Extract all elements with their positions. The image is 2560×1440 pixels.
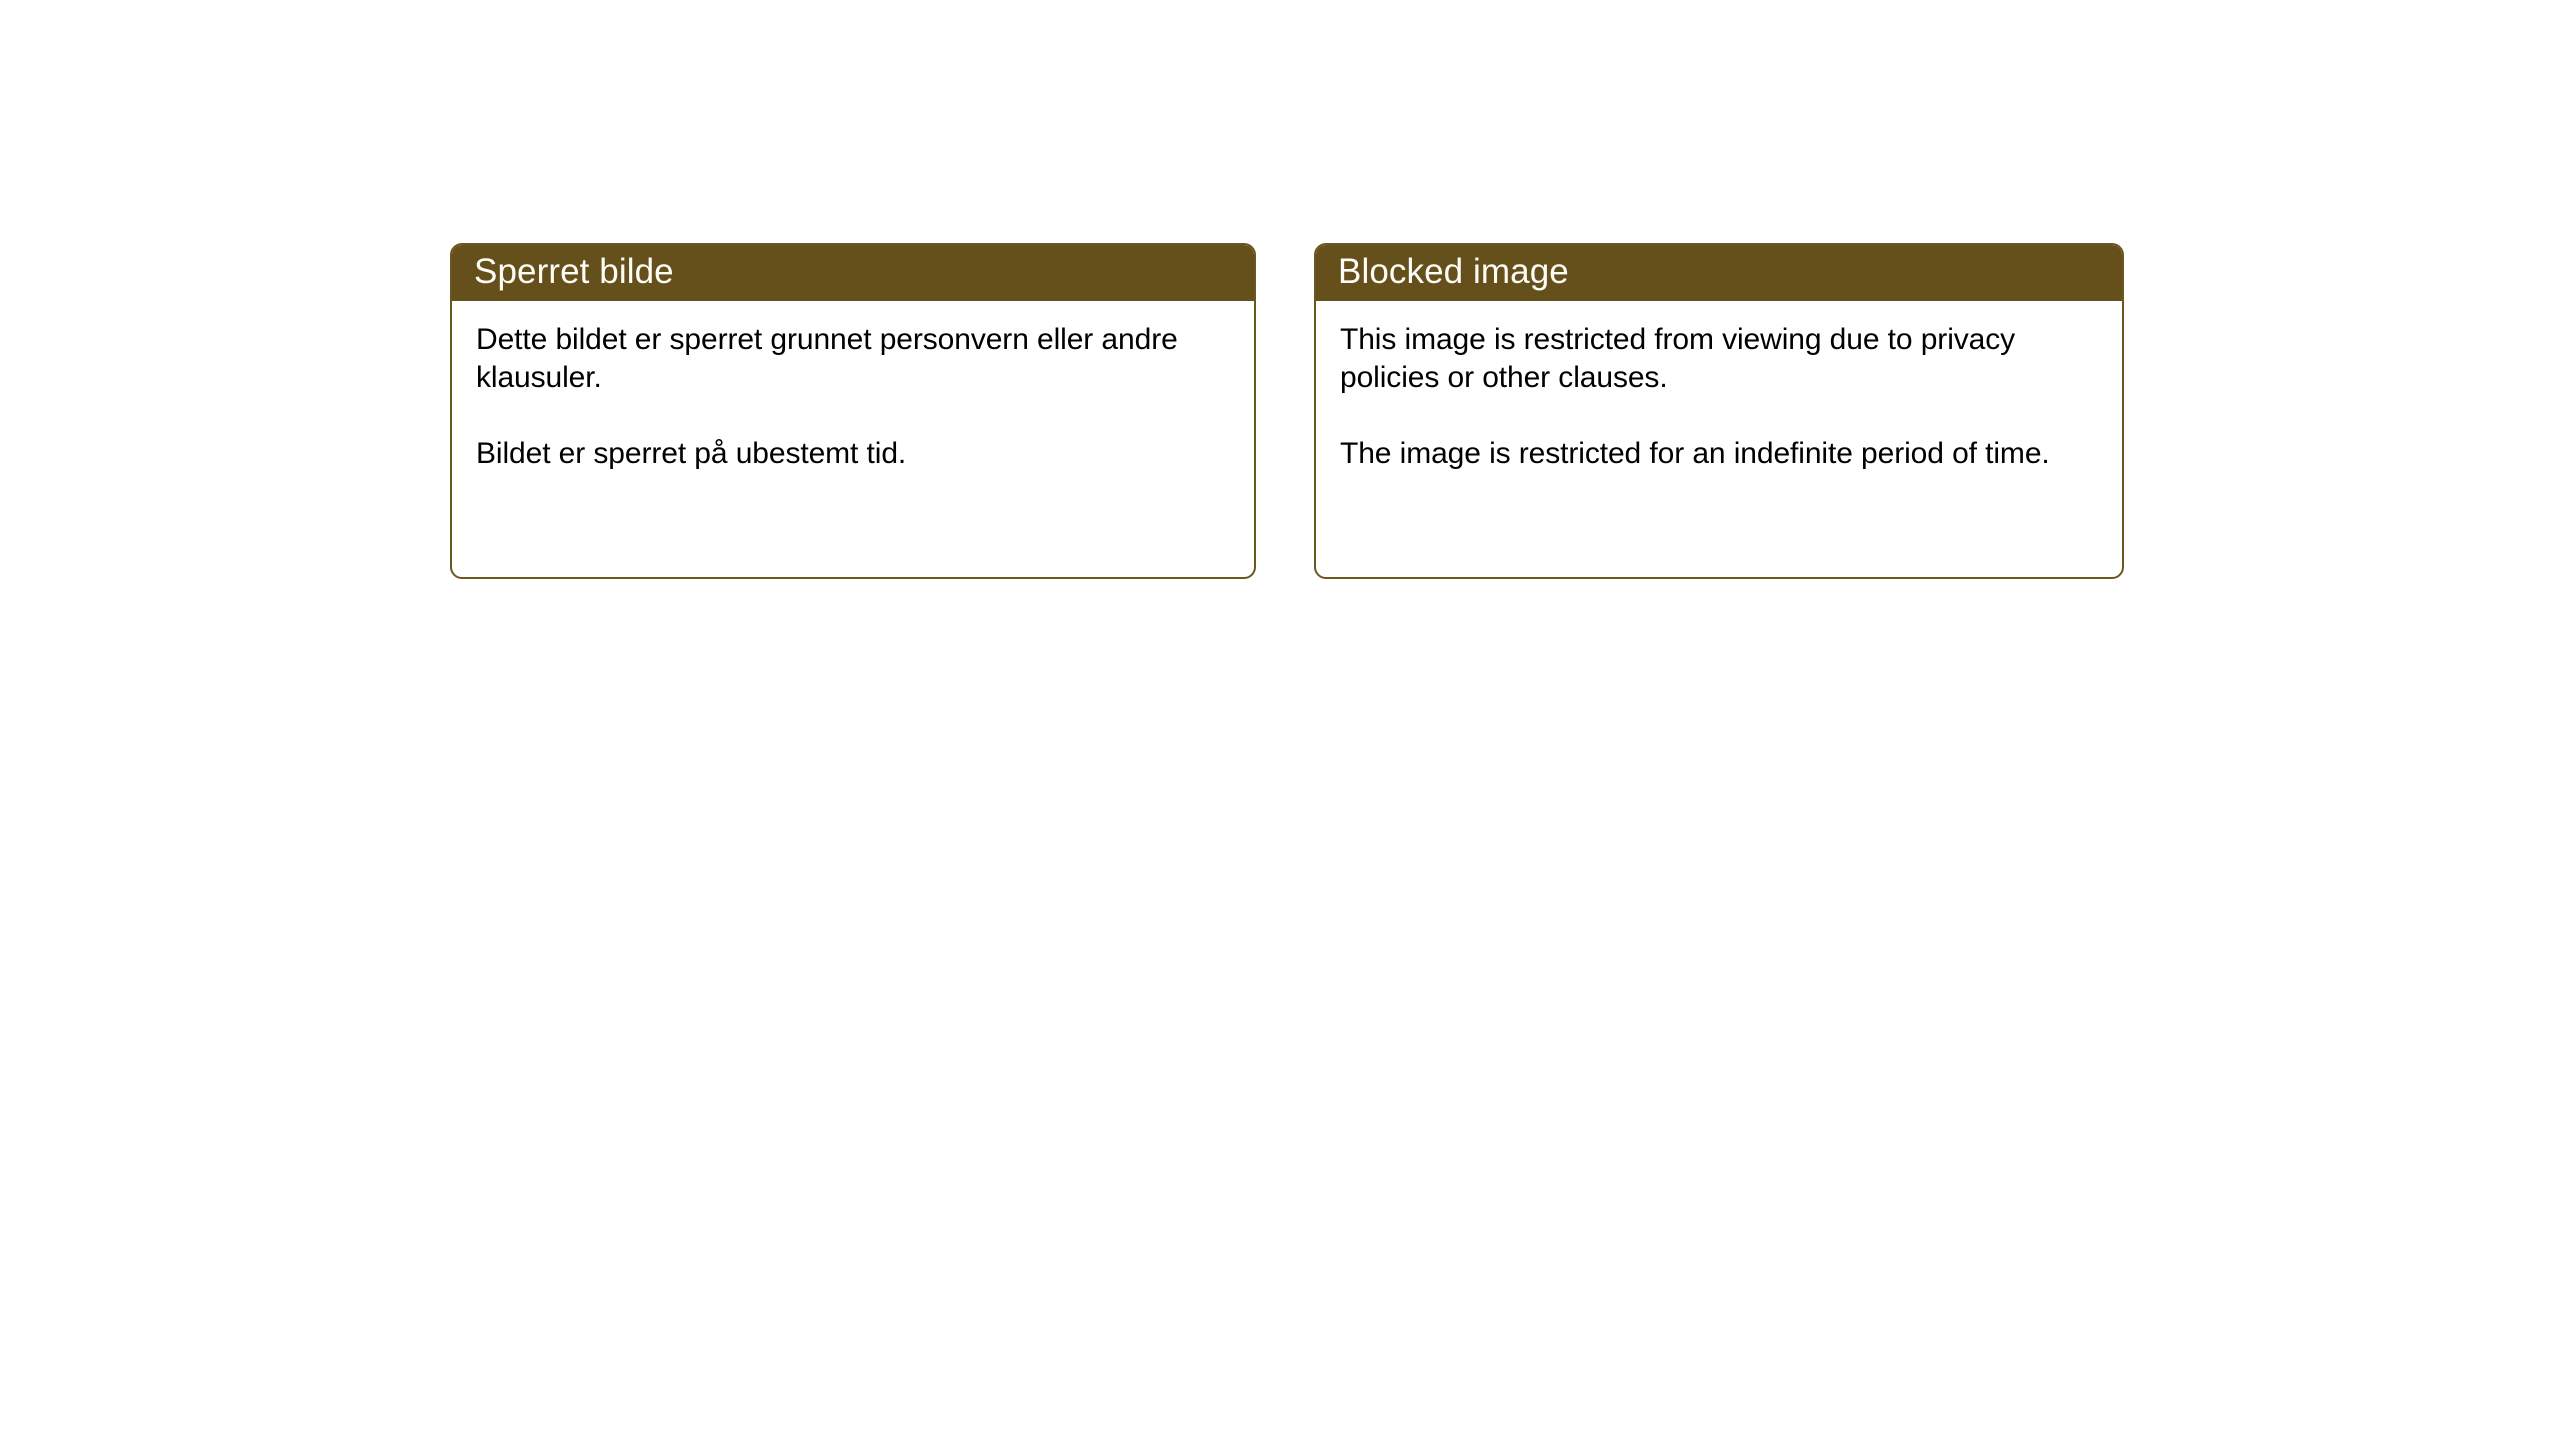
card-paragraph-reason-english: This image is restricted from viewing du… [1340,321,2100,397]
card-title-english: Blocked image [1338,252,1569,292]
blocked-image-notice-card-norwegian: Sperret bilde Dette bildet er sperret gr… [450,243,1256,579]
blocked-image-notice-card-english: Blocked image This image is restricted f… [1314,243,2124,579]
card-paragraph-duration-english: The image is restricted for an indefinit… [1340,435,2100,473]
card-header-english: Blocked image [1314,243,2124,301]
card-title-norwegian: Sperret bilde [474,252,674,292]
card-paragraph-reason-norwegian: Dette bildet er sperret grunnet personve… [476,321,1232,397]
card-body-english: This image is restricted from viewing du… [1316,301,2122,575]
card-body-norwegian: Dette bildet er sperret grunnet personve… [452,301,1254,575]
card-header-norwegian: Sperret bilde [450,243,1256,301]
page-canvas: Sperret bilde Dette bildet er sperret gr… [0,0,2560,1440]
card-paragraph-duration-norwegian: Bildet er sperret på ubestemt tid. [476,435,1232,473]
